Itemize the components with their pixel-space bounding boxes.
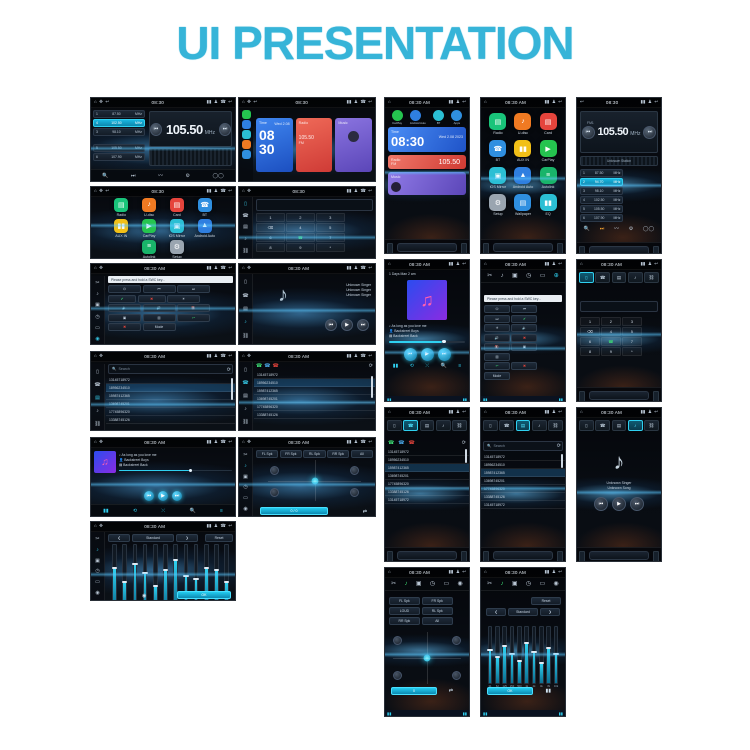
reset-icon[interactable]: ⇄ bbox=[363, 509, 367, 515]
list-item[interactable]: 15987412365 bbox=[481, 469, 565, 477]
video-icon[interactable]: ▣ bbox=[416, 581, 422, 587]
key-1[interactable]: 1 bbox=[256, 213, 285, 222]
apps-icon[interactable]: ✥ bbox=[99, 189, 103, 193]
bottom-strip[interactable]: ▮▮ ▮▮ bbox=[481, 396, 565, 402]
device-icon[interactable]: ▯ bbox=[483, 420, 498, 431]
app-auxin[interactable]: ▮▮AUX IN bbox=[510, 140, 535, 162]
scrollbar[interactable] bbox=[371, 376, 373, 398]
back-arrow-icon[interactable]: ↩ bbox=[368, 354, 372, 358]
list-item[interactable]: 13698745201 bbox=[385, 472, 469, 480]
eq-ok-button[interactable]: OK bbox=[487, 687, 533, 695]
app-card[interactable]: ▤Card bbox=[164, 198, 190, 217]
list-item[interactable]: 13145718972 bbox=[254, 371, 375, 379]
dock-right-control[interactable] bbox=[653, 246, 659, 254]
back-arrow-icon[interactable]: ↩ bbox=[228, 266, 232, 270]
music-bottom-bar[interactable]: ▮▮ ⟲ ⤫ 🔍 ≡ bbox=[91, 504, 235, 517]
eq-band[interactable]: 250 bbox=[509, 626, 515, 688]
back-arrow-icon[interactable]: ↩ bbox=[368, 100, 372, 104]
preset-item[interactable]: 5105.50MHz bbox=[580, 205, 623, 213]
missed-call-icon[interactable]: ☎ bbox=[272, 364, 278, 369]
app-grid[interactable]: ▤Radio ♪U-disc ▤Card ☎BT ▮▮AUX IN ▶CarPl… bbox=[481, 108, 565, 240]
sound-icon[interactable]: ♪ bbox=[405, 581, 408, 587]
swc-key-disp[interactable]: ▣ bbox=[108, 314, 141, 322]
back-arrow-icon[interactable]: ↩ bbox=[654, 410, 658, 414]
dock-bar[interactable] bbox=[493, 243, 552, 252]
general-icon[interactable]: ✂ bbox=[487, 581, 492, 587]
music-icon[interactable]: ♪ bbox=[244, 407, 247, 412]
tune-up-button[interactable]: ⏭ bbox=[219, 123, 231, 136]
music-icon[interactable]: ♪ bbox=[244, 320, 247, 325]
music-bottom-bar[interactable]: ▮▮ ⟲ ⤫ 🔍 ≡ bbox=[385, 361, 469, 372]
dialpad-keys[interactable]: 1 2 3 ⌫ 4 5 6 ☎ 7 8 9 * bbox=[256, 211, 373, 254]
phone-icon[interactable]: ☎ bbox=[360, 189, 365, 193]
dock-right-control[interactable] bbox=[461, 243, 467, 254]
next-small-icon[interactable]: ▮▮ bbox=[463, 711, 467, 716]
eq-band[interactable]: 500 bbox=[516, 626, 522, 688]
back-arrow-icon[interactable]: ↩ bbox=[462, 410, 466, 414]
fader-value[interactable]: 0 / 0 bbox=[260, 507, 328, 515]
contact-list[interactable]: 13145718972 18956234510 15987412365 1369… bbox=[481, 453, 565, 509]
phone-icon[interactable]: ☎ bbox=[360, 354, 365, 358]
swc-key-next[interactable]: ⏭ bbox=[484, 315, 510, 323]
home-icon[interactable]: ⌂ bbox=[484, 410, 487, 414]
key-backspace[interactable]: ⌫ bbox=[256, 223, 285, 232]
next-small-icon[interactable]: ▮▮ bbox=[559, 397, 563, 402]
back-arrow-icon[interactable]: ↩ bbox=[228, 100, 232, 104]
screen-dialpad-landscape[interactable]: ⌂✥ 08:30 ▮▮♟☎↩ ▯ ☎ ▤ ♪ ⛓ 1 2 3 ⌫ 4 5 6 ☎… bbox=[238, 186, 376, 259]
scan-icon[interactable]: ⏭ bbox=[131, 174, 136, 179]
list-item[interactable]: 13388745126 bbox=[254, 411, 375, 419]
tab-fl-spk[interactable]: FL Spk bbox=[256, 450, 278, 458]
swc-icon[interactable]: ◉ bbox=[554, 581, 559, 587]
phone-icon[interactable]: ☎ bbox=[403, 420, 418, 431]
phone-icon[interactable]: ☎ bbox=[242, 381, 248, 386]
home-icon[interactable]: ⌂ bbox=[242, 266, 245, 270]
dock-right-control[interactable] bbox=[557, 243, 563, 254]
home-icon[interactable]: ⌂ bbox=[580, 262, 583, 266]
reset-icon[interactable]: ⇄ bbox=[449, 688, 453, 694]
dock-left-control[interactable] bbox=[579, 391, 585, 402]
next-button[interactable]: ⏭ bbox=[630, 497, 644, 511]
next-small-icon[interactable]: ▮▮ bbox=[463, 397, 467, 402]
swc-key-volup[interactable]: 🔊 bbox=[484, 334, 510, 342]
list-item[interactable]: 13388745126 bbox=[106, 416, 235, 424]
bottom-strip[interactable]: ▮▮ ▮▮ bbox=[481, 710, 565, 717]
dock-left-control[interactable] bbox=[483, 243, 489, 254]
dock-right-control[interactable] bbox=[461, 551, 467, 562]
app-card[interactable]: ▤Card bbox=[536, 113, 561, 135]
device-icon[interactable]: ▯ bbox=[579, 420, 594, 431]
playback-controls[interactable]: ⏮ ▶ ⏭ bbox=[91, 491, 235, 501]
phone-icon[interactable]: ☎ bbox=[220, 524, 225, 528]
tab-rl-spk[interactable]: RL Spk bbox=[422, 607, 453, 615]
swc-key-power[interactable]: ⏻ bbox=[484, 305, 510, 313]
key-9[interactable]: 9 bbox=[601, 347, 621, 356]
screen-eq-landscape[interactable]: ⌂✥ 08:30 AM ▮▮♟☎↩ ✂ ♪ ▣ ◷ ▭ ◉ ❮ Standard… bbox=[90, 521, 236, 601]
general-icon[interactable]: ✂ bbox=[391, 581, 396, 587]
app-bt[interactable]: ☎BT bbox=[485, 140, 510, 162]
apps-icon[interactable]: ✥ bbox=[99, 354, 103, 358]
settings-tabbar[interactable]: ✂ ♪ ▣ ◷ ▭ ◉ bbox=[481, 578, 565, 591]
scrollbar[interactable] bbox=[231, 378, 233, 400]
card-music[interactable]: Music bbox=[335, 118, 372, 172]
screen-apps-landscape[interactable]: ⌂✥↩ 08:30 ▮▮♟☎↩ ▤Radio ♪U-disc ▤Card ☎BT… bbox=[90, 186, 236, 259]
screen-fader-portrait[interactable]: ⌂ 08:30 AM ▮▮♟↩ ✂ ♪ ▣ ◷ ▭ ◉ FL Spk FR Sp… bbox=[384, 567, 470, 717]
fader-pad[interactable] bbox=[393, 632, 461, 684]
app-carplay[interactable]: ▶CarPlay bbox=[136, 219, 162, 238]
eq-preset-name[interactable]: Standard bbox=[508, 608, 538, 616]
list-item[interactable]: 18956234510 bbox=[481, 461, 565, 469]
back-arrow-icon[interactable]: ↩ bbox=[558, 570, 562, 574]
shuffle-icon[interactable]: ⤫ bbox=[161, 509, 165, 514]
progress-bar[interactable] bbox=[119, 470, 232, 472]
back-arrow-icon[interactable]: ↩ bbox=[228, 189, 232, 193]
next-button[interactable]: ⏭ bbox=[172, 491, 182, 501]
phone-icon[interactable]: ☎ bbox=[360, 266, 365, 270]
app-setup[interactable]: ⚙Setup bbox=[164, 240, 190, 259]
prev-button[interactable]: ⏮ bbox=[594, 497, 608, 511]
swc-key-cancel[interactable]: ✖ bbox=[511, 334, 537, 342]
list-item[interactable]: 18956234510 bbox=[254, 379, 375, 387]
bt-tabbar[interactable]: ▯ ☎ ▤ ♪ ⛓ bbox=[577, 418, 661, 433]
link-icon[interactable]: ⛓ bbox=[242, 420, 248, 425]
swc-key-confirm[interactable]: ✔ bbox=[108, 295, 136, 303]
preset-item[interactable]: 187.50MHz bbox=[580, 169, 623, 177]
app-radio[interactable]: ▤Radio bbox=[108, 198, 134, 217]
link-icon[interactable]: ⛓ bbox=[644, 420, 659, 431]
shortcut-apps[interactable] bbox=[242, 150, 251, 159]
home-icon[interactable]: ⌂ bbox=[94, 440, 97, 444]
key-8[interactable]: 8 bbox=[256, 243, 285, 252]
shortcut-radio[interactable] bbox=[242, 140, 251, 149]
call-filter-bar[interactable]: ☎ ☎ ☎ ⟳ bbox=[385, 433, 469, 448]
screen-swc-portrait[interactable]: ⌂ 08:30 AM ▮▮♟↩ ✂ ♪ ▣ ◷ ▭ ⊕ Please press… bbox=[480, 259, 566, 402]
eq-band[interactable]: 16k bbox=[553, 626, 559, 688]
app-udisc[interactable]: ♪U-disc bbox=[510, 113, 535, 135]
dial-number-field[interactable] bbox=[580, 301, 658, 312]
phone-icon[interactable]: ☎ bbox=[220, 354, 225, 358]
device-icon[interactable]: ▯ bbox=[579, 272, 594, 283]
list-item[interactable]: 13145718972 bbox=[385, 496, 469, 504]
tune-up-button[interactable]: ⏭ bbox=[643, 126, 656, 139]
swc-key-menu[interactable]: ▥ bbox=[143, 314, 176, 322]
tab-loud[interactable]: LOUD bbox=[389, 607, 420, 615]
swc-key-next[interactable]: ⏭ bbox=[177, 285, 210, 293]
list-item[interactable]: 15987412365 bbox=[385, 464, 469, 472]
call-list[interactable]: 13145718972 18956234510 15987412365 1369… bbox=[254, 371, 375, 419]
phone-icon[interactable]: ☎ bbox=[220, 440, 225, 444]
card-radio[interactable]: Radio 105.50 FM bbox=[388, 155, 466, 169]
swc-key-hangup[interactable]: ↩ bbox=[484, 362, 510, 370]
back-arrow-icon[interactable]: ↩ bbox=[228, 524, 232, 528]
sound-icon[interactable]: ♪ bbox=[501, 581, 504, 587]
screen-fader-landscape[interactable]: ⌂✥ 08:30 AM ▮▮♟☎↩ ✂ ♪ ▣ ◷ ▭ ◉ FL Spk FR … bbox=[238, 437, 376, 517]
general-icon[interactable]: ✂ bbox=[243, 453, 247, 458]
shortcut-carplay[interactable] bbox=[242, 110, 251, 119]
playback-controls[interactable]: ⏮ ▶ ⏭ bbox=[577, 497, 661, 511]
back-icon[interactable]: ↩ bbox=[580, 100, 584, 104]
card-clock[interactable]: Time 08:30 Wed 2.08 2023 bbox=[388, 127, 466, 152]
home-icon[interactable]: ⌂ bbox=[484, 570, 487, 574]
swc-key-bright[interactable]: ☀ bbox=[484, 324, 510, 332]
sound-icon[interactable]: ♪ bbox=[244, 464, 247, 469]
repeat-icon[interactable]: ⟲ bbox=[133, 509, 137, 514]
swc-icon[interactable]: ◉ bbox=[458, 581, 463, 587]
back-arrow-icon[interactable]: ↩ bbox=[228, 354, 232, 358]
eq-band[interactable]: 125 bbox=[502, 626, 508, 688]
eq-preset-name[interactable]: Standard bbox=[132, 534, 174, 542]
phone-icon[interactable]: ☎ bbox=[242, 294, 248, 299]
tune-down-button[interactable]: ⏮ bbox=[150, 123, 162, 136]
phone-icon[interactable]: ☎ bbox=[595, 272, 610, 283]
screen-music-landscape[interactable]: ⌂✥ 08:30 AM ▮▮♟☎↩ ▯ ☎ ▤ ♪ ⛓ ♪ Unknown Si… bbox=[238, 263, 376, 345]
swc-key-reject[interactable]: ✖ bbox=[108, 323, 141, 331]
sound-icon[interactable]: ♪ bbox=[501, 273, 504, 279]
link-icon[interactable]: ⛓ bbox=[644, 272, 659, 283]
tab-rr-spk[interactable]: RR Spk bbox=[327, 450, 349, 458]
eq-icon[interactable]: ⚙ bbox=[186, 174, 190, 179]
swc-key-prev[interactable]: ⏮ bbox=[143, 285, 176, 293]
screen-calllog-landscape[interactable]: ⌂✥ 08:30 AM ▮▮♟☎↩ ▯ ☎ ▤ ♪ ⛓ ☎ ☎ ☎ ⟳ 1314… bbox=[238, 351, 376, 431]
next-button[interactable]: ⏭ bbox=[357, 319, 369, 331]
home-icon[interactable]: ⌂ bbox=[94, 100, 97, 104]
screen-nowplaying-portrait[interactable]: ⌂ 08:30 AM ▮▮♟↩ 1 Days Man 2 am ♫ ♪ As l… bbox=[384, 259, 470, 402]
next-small-icon[interactable]: ▮▮ bbox=[559, 711, 563, 716]
device-icon[interactable]: ▯ bbox=[244, 280, 247, 285]
video-icon[interactable]: ▣ bbox=[512, 581, 518, 587]
dock-bar[interactable] bbox=[397, 243, 456, 252]
link-icon[interactable]: ⛓ bbox=[548, 420, 563, 431]
speaker-front-left[interactable] bbox=[270, 466, 279, 475]
dock[interactable] bbox=[577, 387, 661, 402]
list-item[interactable]: 13145718972 bbox=[481, 501, 565, 509]
device-icon[interactable]: ▯ bbox=[244, 202, 247, 207]
back-arrow-icon[interactable]: ↩ bbox=[228, 440, 232, 444]
link-icon[interactable]: ⛓ bbox=[94, 422, 100, 427]
app-eq[interactable]: ▮▮EQ bbox=[536, 194, 561, 216]
search-icon[interactable]: 🔍 bbox=[441, 364, 447, 369]
music-icon[interactable]: ♪ bbox=[436, 420, 451, 431]
music-icon[interactable]: ♪ bbox=[96, 409, 99, 414]
eq-band[interactable]: 1k bbox=[524, 626, 530, 688]
back-arrow-icon[interactable]: ↩ bbox=[558, 410, 562, 414]
shortcut-carplay[interactable] bbox=[392, 110, 403, 121]
back-arrow-icon[interactable]: ↩ bbox=[462, 570, 466, 574]
list-item[interactable]: 17745896320 bbox=[106, 408, 235, 416]
incoming-call-icon[interactable]: ☎ bbox=[256, 364, 262, 369]
swc-icon[interactable]: ◉ bbox=[95, 337, 99, 342]
apps-icon[interactable]: ✥ bbox=[99, 524, 103, 528]
eq-prev-preset[interactable]: ❮ bbox=[108, 534, 130, 542]
shortcut-android-auto[interactable] bbox=[410, 110, 421, 121]
app-carplay[interactable]: ▶CarPlay bbox=[536, 140, 561, 162]
swc-key-voldown[interactable]: 🔉 bbox=[511, 324, 537, 332]
link-icon[interactable]: ⛓ bbox=[242, 249, 248, 254]
back-arrow-icon[interactable]: ↩ bbox=[368, 266, 372, 270]
bt-tabbar[interactable]: ▯ ☎ ▤ ♪ ⛓ bbox=[481, 418, 565, 433]
music-icon[interactable]: ♪ bbox=[628, 272, 643, 283]
dock-right-control[interactable] bbox=[653, 391, 659, 402]
home-icon[interactable]: ⌂ bbox=[388, 410, 391, 414]
home-icon[interactable]: ⌂ bbox=[94, 354, 97, 358]
playlist-icon[interactable]: ≡ bbox=[458, 364, 461, 369]
key-star[interactable]: * bbox=[316, 243, 345, 252]
screen-phonebook-portrait[interactable]: ⌂ 08:30 AM ▮▮♟↩ ▯ ☎ ▤ ♪ ⛓ 🔍 Search ⟳ 131… bbox=[480, 407, 566, 562]
eq-icon[interactable]: ▮▮ bbox=[103, 509, 109, 514]
video-icon[interactable]: ▣ bbox=[512, 273, 518, 279]
preset-item[interactable]: 4102.50MHz bbox=[93, 119, 145, 127]
phone-icon[interactable]: ☎ bbox=[242, 214, 248, 219]
list-item[interactable]: 13145718972 bbox=[106, 376, 235, 384]
video-icon[interactable]: ▣ bbox=[95, 559, 100, 564]
eq-band[interactable]: 31 bbox=[487, 626, 493, 688]
dock-right-control[interactable] bbox=[557, 551, 563, 562]
dock-bar[interactable] bbox=[589, 391, 648, 400]
dock[interactable] bbox=[385, 547, 469, 562]
time-icon[interactable]: ◷ bbox=[430, 581, 435, 587]
radio-bottom-bar[interactable]: 🔍 ⏭ 〰 ⚙ ◯◯ bbox=[91, 169, 235, 182]
play-button[interactable]: ▶ bbox=[341, 319, 353, 331]
key-2[interactable]: 2 bbox=[286, 213, 315, 222]
shortcut-apps[interactable] bbox=[451, 110, 462, 121]
back-icon[interactable]: ↩ bbox=[105, 189, 109, 193]
shortcut-bt[interactable] bbox=[242, 130, 251, 139]
refresh-icon[interactable]: ⟳ bbox=[227, 367, 231, 373]
eq-prev-preset[interactable]: ❮ bbox=[486, 608, 506, 616]
key-6[interactable]: 6 bbox=[580, 337, 600, 346]
display-icon[interactable]: ▭ bbox=[540, 581, 546, 587]
eq-icon[interactable]: ⚙ bbox=[629, 227, 633, 232]
apps-icon[interactable]: ✥ bbox=[99, 266, 103, 270]
bt-rail[interactable]: ▯ ☎ ▤ ♪ ⛓ bbox=[239, 362, 253, 431]
missed-call-icon[interactable]: ☎ bbox=[408, 441, 414, 446]
stereo-icon[interactable]: ◯◯ bbox=[643, 227, 654, 232]
home-icon[interactable]: ⌂ bbox=[242, 189, 245, 193]
eq-band-list[interactable]: 31 62 125 250 500 1k 2k 4k 8k 16k bbox=[485, 626, 561, 688]
key-8[interactable]: 8 bbox=[580, 347, 600, 356]
general-icon[interactable]: ✂ bbox=[95, 537, 99, 542]
list-item[interactable]: 15987412365 bbox=[106, 392, 235, 400]
screen-radio-landscape[interactable]: ⌂✥↩ 08:30 ▮▮♟☎↩ 187.50MHz 4102.50MHz 398… bbox=[90, 97, 236, 182]
eq-icon[interactable]: ▮▮ bbox=[393, 364, 399, 369]
key-7[interactable]: 7 bbox=[622, 337, 642, 346]
home-icon[interactable]: ⌂ bbox=[388, 100, 391, 104]
eq-next-preset[interactable]: ❯ bbox=[540, 608, 560, 616]
eq-band[interactable]: 8k bbox=[546, 626, 552, 688]
preset-item[interactable]: 6107.90MHz bbox=[93, 153, 145, 161]
eq-band[interactable]: 2k bbox=[531, 626, 537, 688]
contacts-icon[interactable]: ▤ bbox=[612, 272, 627, 283]
outgoing-call-icon[interactable]: ☎ bbox=[264, 364, 270, 369]
dock-left-control[interactable] bbox=[579, 246, 585, 254]
screen-dialpad-portrait[interactable]: ⌂ 08:30 AM ▮▮♟↩ ▯ ☎ ▤ ♪ ⛓ 1 2 3 ⌫ 4 5 6 … bbox=[576, 259, 662, 402]
music-icon[interactable]: ♪ bbox=[628, 420, 643, 431]
apps-icon[interactable]: ✥ bbox=[247, 189, 251, 193]
app-android-auto[interactable]: ▲Android Auto bbox=[192, 219, 218, 238]
home-icon[interactable]: ⌂ bbox=[388, 570, 391, 574]
screen-home-portrait[interactable]: ⌂ 08:30 AM ▮▮♟↩ CarPlay Android Auto BT … bbox=[384, 97, 470, 254]
app-auxin[interactable]: ▮▮AUX IN bbox=[108, 219, 134, 238]
list-item[interactable]: 13145718972 bbox=[481, 453, 565, 461]
tab-all[interactable]: All bbox=[422, 617, 453, 625]
home-icon[interactable]: ⌂ bbox=[94, 266, 97, 270]
speaker-rear-left[interactable] bbox=[393, 671, 402, 680]
key-call[interactable]: ☎ bbox=[601, 337, 621, 346]
bt-tabbar[interactable]: ▯ ☎ ▤ ♪ ⛓ bbox=[577, 270, 661, 285]
swc-key-confirm[interactable]: ✔ bbox=[511, 315, 537, 323]
apps-icon[interactable]: ✥ bbox=[99, 100, 103, 104]
swc-key-reject[interactable]: ✖ bbox=[511, 362, 537, 370]
incoming-call-icon[interactable]: ☎ bbox=[388, 441, 394, 446]
list-item[interactable]: 15987412365 bbox=[254, 387, 375, 395]
app-wallpaper[interactable]: ▤Wallpaper bbox=[510, 194, 535, 216]
home-icon[interactable]: ⌂ bbox=[580, 410, 583, 414]
card-clock[interactable]: Time 08 30 Wed 2.08 bbox=[256, 118, 293, 172]
general-icon[interactable]: ✂ bbox=[487, 273, 492, 279]
app-grid[interactable]: ▤Radio ♪U-disc ▤Card ☎BT ▮▮AUX IN ▶CarPl… bbox=[91, 197, 235, 259]
contacts-icon[interactable]: ▤ bbox=[243, 394, 248, 399]
back-arrow-icon[interactable]: ↩ bbox=[462, 100, 466, 104]
list-item[interactable]: 13698745201 bbox=[481, 477, 565, 485]
speaker-rear-right[interactable] bbox=[452, 671, 461, 680]
eq-ok-button[interactable]: OK bbox=[177, 591, 231, 599]
apps-icon[interactable]: ✥ bbox=[247, 440, 251, 444]
eq-next-preset[interactable]: ❯ bbox=[176, 534, 198, 542]
swc-key-power[interactable]: ⏻ bbox=[108, 285, 141, 293]
screen-radio-portrait[interactable]: ↩ 08:30 ▮▮♟↩ FM1 ⏮ 105.50 MHz ⏭ Unknown … bbox=[576, 97, 662, 254]
tab-fr-spk[interactable]: FR Spk bbox=[280, 450, 302, 458]
screen-home-landscape[interactable]: ⌂✥↩ 08:30 ▮▮♟☎↩ Time 08 30 Wed 2.08 Radi… bbox=[238, 97, 376, 182]
bottom-strip[interactable]: ▮▮ ▮▮ bbox=[385, 710, 469, 717]
contacts-icon[interactable]: ▤ bbox=[516, 420, 531, 431]
preset-item[interactable]: 4102.50MHz bbox=[580, 196, 623, 204]
contacts-icon[interactable]: ▤ bbox=[612, 420, 627, 431]
outgoing-call-icon[interactable]: ☎ bbox=[398, 441, 404, 446]
app-bt[interactable]: ☎BT bbox=[192, 198, 218, 217]
back-icon[interactable]: ↩ bbox=[253, 100, 257, 104]
apps-icon[interactable]: ✥ bbox=[247, 266, 251, 270]
refresh-icon[interactable]: ⟳ bbox=[462, 441, 466, 446]
dock-left-control[interactable] bbox=[579, 551, 585, 562]
shortcut-android-auto[interactable] bbox=[242, 120, 251, 129]
dock-left-control[interactable] bbox=[483, 551, 489, 562]
settings-rail[interactable]: ✂ ♪ ▣ ◷ ▭ ◉ bbox=[91, 532, 105, 601]
dock-left-control[interactable] bbox=[387, 243, 393, 254]
key-9[interactable]: 9 bbox=[286, 243, 315, 252]
shortcut-bt[interactable] bbox=[433, 110, 444, 121]
back-arrow-icon[interactable]: ↩ bbox=[368, 440, 372, 444]
screen-phonebook-landscape[interactable]: ⌂✥ 08:30 AM ▮▮♟☎↩ ▯ ☎ ▤ ♪ ⛓ 🔍 Search ⟳ 1… bbox=[90, 351, 236, 431]
tune-down-button[interactable]: ⏮ bbox=[582, 126, 595, 139]
preset-item[interactable]: 187.50MHz bbox=[93, 110, 145, 118]
eq-reset-button[interactable]: Reset bbox=[205, 534, 233, 542]
fader-value[interactable]: 0 bbox=[391, 687, 437, 695]
phone-icon[interactable]: ☎ bbox=[499, 420, 514, 431]
display-icon[interactable]: ▭ bbox=[444, 581, 450, 587]
bottom-strip[interactable]: ▮▮ ▮▮ bbox=[385, 396, 469, 402]
scan-icon[interactable]: ⏭ bbox=[600, 227, 605, 232]
home-icon[interactable]: ⌂ bbox=[242, 100, 245, 104]
home-icon[interactable]: ⌂ bbox=[484, 262, 487, 266]
speaker-rear-left[interactable] bbox=[270, 488, 279, 497]
home-icon[interactable]: ⌂ bbox=[242, 354, 245, 358]
key-2[interactable]: 2 bbox=[601, 317, 621, 326]
phone-icon[interactable]: ☎ bbox=[360, 100, 365, 104]
video-icon[interactable]: ▣ bbox=[243, 475, 248, 480]
preset-grid[interactable]: 187.50MHz 294.70MHz 398.10MHz 4102.50MHz… bbox=[577, 166, 661, 225]
settings-tabbar[interactable]: ✂ ♪ ▣ ◷ ▭ ◉ bbox=[385, 578, 469, 591]
app-ios-mirror[interactable]: ▣iOS Mirror bbox=[164, 219, 190, 238]
